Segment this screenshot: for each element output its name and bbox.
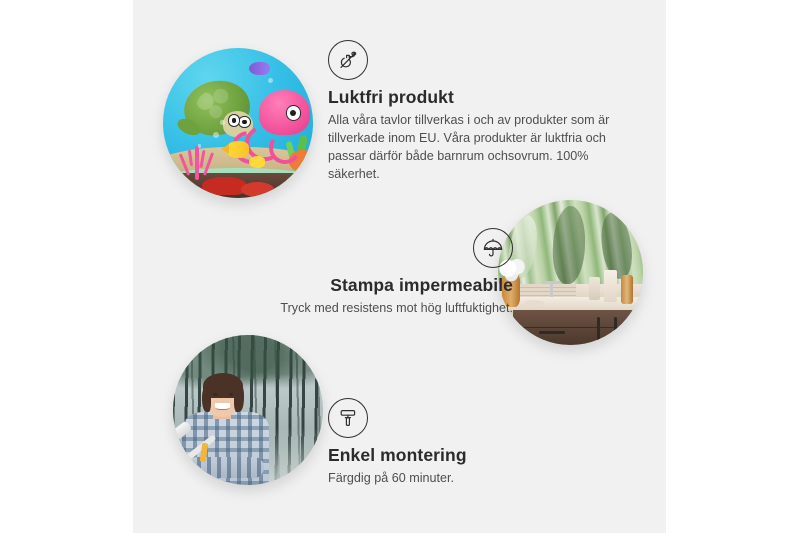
eye-left [213,393,217,397]
feature-description: Alla våra tavlor tillverkas i och av pro… [328,112,628,184]
toiletry-bottle-2 [589,277,599,300]
no-scent-spray-bottle-icon [328,40,368,80]
bubble [198,144,202,148]
hair-right [234,384,244,412]
feature-description: Tryck med resistens mot hög luftfuktighe… [183,300,513,318]
cabinet-handle-2 [614,317,617,340]
umbrella-icon [473,228,513,268]
feature-title: Stampa impermeabile [183,275,513,296]
toiletry-bottle [604,270,617,302]
bubble [213,132,219,138]
woman-paint-roller-forest-photo [173,335,323,485]
folded-arms [187,457,264,478]
feature-title: Luktfri produkt [328,87,628,108]
bathroom-tropical-wallpaper-photo [498,200,643,345]
faucet [550,284,553,297]
octopus-eye [286,105,302,121]
icon-wrap [183,228,513,268]
screenshot-canvas: Luktfri produkt Alla våra tavlor tillver… [0,0,800,533]
feature-block-waterproof: Stampa impermeabile Tryck med resistens … [183,228,513,318]
icon-wrap [328,40,628,80]
underwater-cartoon-photo [163,48,313,198]
brass-canister [621,275,633,304]
yellow-fish [226,141,249,158]
bathroom-scene-art [498,200,643,345]
bubble [220,120,225,125]
woman-figure [182,368,269,485]
cabinet-handle [597,317,600,340]
drawer-handle [539,331,565,334]
feature-block-easy-assembly: Enkel montering Färgdig på 60 minuter. [328,398,618,488]
hair-left [202,387,211,413]
turtle-eye-left [228,114,241,127]
feature-title: Enkel montering [328,445,618,466]
blue-fish [249,62,270,76]
content-panel: Luktfri produkt Alla våra tavlor tillver… [133,0,666,533]
vanity-seam [513,327,644,328]
icon-wrap [328,398,618,438]
forest-scene-art [173,335,323,485]
red-rock-2 [241,182,274,197]
paint-roller-icon [328,398,368,438]
yellow-fish-2 [249,156,266,168]
feature-block-odourless: Luktfri produkt Alla våra tavlor tillver… [328,40,628,184]
underwater-scene-art [163,48,313,198]
smile [215,403,230,410]
feature-description: Färgdig på 60 minuter. [328,470,618,488]
